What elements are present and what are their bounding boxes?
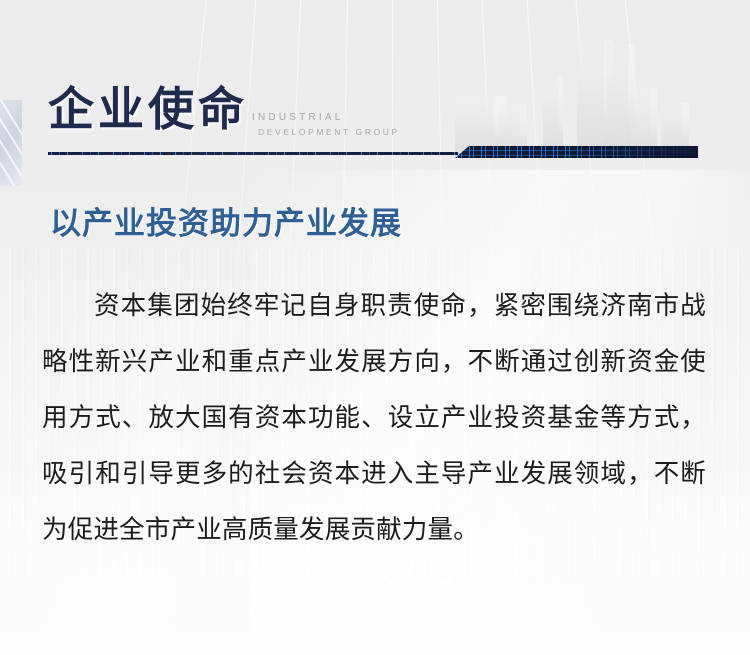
heading-underline-rule <box>48 152 458 155</box>
english-subtitle-line2: DEVELOPMENT GROUP <box>258 126 400 139</box>
english-subtitle: INDUSTRIAL DEVELOPMENT GROUP <box>252 110 400 139</box>
building-3 <box>543 76 563 156</box>
left-accent-panel <box>0 100 22 186</box>
city-skyline-graphic <box>455 28 700 156</box>
mission-body-text: 资本集团始终牢记自身职责使命，紧密围绕济南市战略性新兴产业和重点产业发展方向，不… <box>42 278 706 558</box>
english-subtitle-line1: INDUSTRIAL <box>252 110 400 126</box>
section-subtitle: 以产业投资助力产业发展 <box>50 198 402 243</box>
mission-page: 企业使命 INDUSTRIAL DEVELOPMENT GROUP 以产业投资助… <box>0 0 750 655</box>
page-title: 企业使命 <box>48 86 248 132</box>
digital-pixel-band <box>455 146 698 158</box>
building-6 <box>631 88 657 156</box>
